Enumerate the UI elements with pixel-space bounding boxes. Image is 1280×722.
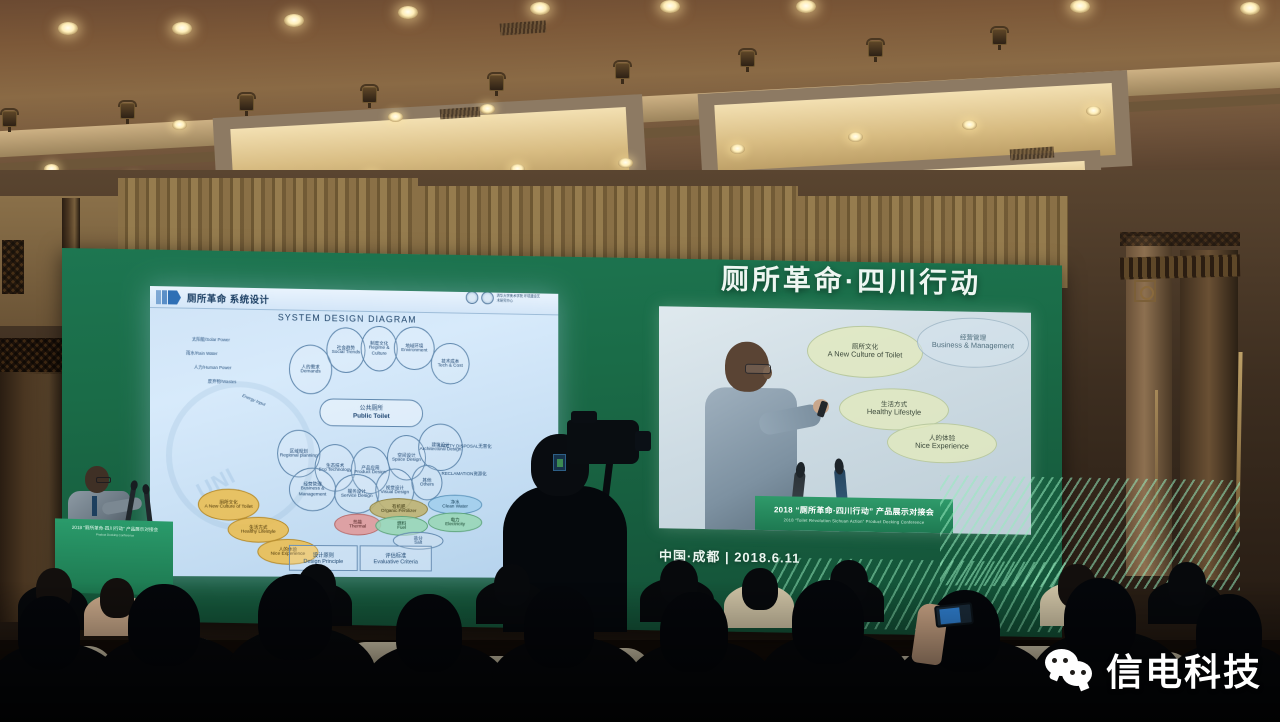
demand-node: 制度文化 Regime & Culture bbox=[361, 326, 398, 372]
input-label: 废弃物/Wastes bbox=[208, 379, 237, 385]
ceiling-downlight bbox=[1086, 106, 1101, 116]
process-label: SAFETY DISPOSAL无害化 bbox=[438, 443, 492, 450]
right-frieze bbox=[1120, 254, 1241, 279]
ceiling-downlight bbox=[388, 112, 403, 122]
slide-bubble-business-management: 经营管理 Business & Management bbox=[917, 317, 1029, 369]
ceiling-downlight bbox=[962, 120, 977, 130]
stage-spotlight bbox=[237, 92, 256, 116]
camera-hood bbox=[571, 411, 597, 423]
audience-head bbox=[1168, 562, 1206, 606]
slide-bubble-toilet-culture: 厕所文化 A New Culture of Toilet bbox=[807, 325, 923, 379]
ceiling-downlight bbox=[284, 14, 304, 27]
stage-spotlight bbox=[360, 84, 379, 108]
slide-header-title: 厕所革命 系统设计 bbox=[187, 291, 269, 306]
input-label: 人力/Human Power bbox=[194, 365, 232, 372]
audience-head bbox=[524, 586, 594, 668]
stage-spotlight bbox=[990, 26, 1009, 50]
watermark: 信电科技 bbox=[1045, 642, 1262, 696]
ceiling-downlight bbox=[1240, 2, 1260, 15]
ceiling-downlight bbox=[58, 22, 78, 35]
conference-photo: 厕所革命 系统设计 清华大学美术学院 环境建设艺术研究中心 SYSTEM DES… bbox=[0, 0, 1280, 722]
video-camera bbox=[567, 420, 639, 464]
logo-caption: 清华大学美术学院 环境建设艺术研究中心 bbox=[497, 294, 541, 304]
input-label: 太阳能/Solar Power bbox=[192, 337, 230, 344]
slide-main-title: 厕所革命·四川行动 bbox=[655, 256, 1047, 303]
stage-spotlight bbox=[613, 60, 632, 84]
audience-head bbox=[128, 584, 200, 666]
audience-head bbox=[494, 564, 530, 606]
demand-node: 技术成本 Tech & Cost bbox=[431, 343, 470, 385]
design-node: 其他 Others bbox=[411, 465, 442, 501]
ceiling-downlight bbox=[796, 0, 816, 13]
audience-head bbox=[660, 592, 728, 672]
stage-spotlight bbox=[866, 38, 885, 62]
ceiling-downlight bbox=[398, 6, 418, 19]
audience-head bbox=[396, 594, 462, 672]
camera-light bbox=[553, 454, 566, 471]
speaker-glasses bbox=[745, 364, 771, 374]
audience-head bbox=[792, 580, 864, 664]
institute-seal-icon bbox=[481, 291, 494, 304]
slide-photo: 厕所文化 A New Culture of Toilet 经营管理 Busine… bbox=[659, 306, 1031, 534]
slide-badge-icon bbox=[156, 290, 182, 304]
center-node-public-toilet: 公共厕所 Public Toilet bbox=[319, 398, 423, 427]
ceiling-downlight bbox=[480, 104, 495, 114]
input-label: 雨水/Rain Water bbox=[186, 351, 218, 357]
ceiling-downlight bbox=[172, 120, 187, 130]
stage-speaker-glasses bbox=[96, 477, 111, 483]
slide-bubble-nice-experience: 人的体验 Nice Experience bbox=[887, 422, 997, 464]
audience-head bbox=[742, 568, 778, 610]
ceiling-downlight bbox=[618, 158, 633, 168]
wechat-icon bbox=[1045, 649, 1095, 689]
ceiling-downlight bbox=[660, 0, 680, 13]
demand-node: 社会趋势 Social Trends bbox=[326, 327, 365, 373]
demand-node: 地域环境 Environment bbox=[394, 326, 435, 370]
stage-spotlight bbox=[0, 108, 19, 132]
ceiling-downlight bbox=[730, 144, 745, 154]
ceiling-downlight bbox=[1070, 0, 1090, 13]
stage-spotlight bbox=[738, 48, 757, 72]
audience-head bbox=[258, 574, 332, 660]
lattice-frieze bbox=[1120, 232, 1240, 246]
wall-medallion bbox=[1134, 280, 1156, 302]
lattice-panel bbox=[2, 240, 24, 294]
ceiling-downlight bbox=[848, 132, 863, 142]
watermark-label: 信电科技 bbox=[1106, 642, 1262, 696]
process-label: RECLAMATION资源化 bbox=[442, 471, 487, 477]
ceiling-downlight bbox=[530, 2, 550, 15]
stage-spotlight bbox=[487, 72, 506, 96]
institution-logos: 清华大学美术学院 环境建设艺术研究中心 bbox=[466, 291, 541, 305]
audience-phone bbox=[934, 602, 974, 628]
audience-head bbox=[18, 596, 80, 670]
stage-spotlight bbox=[118, 100, 137, 124]
university-seal-icon bbox=[466, 291, 479, 304]
ceiling-vent bbox=[500, 20, 547, 35]
ceiling-downlight bbox=[172, 22, 192, 35]
